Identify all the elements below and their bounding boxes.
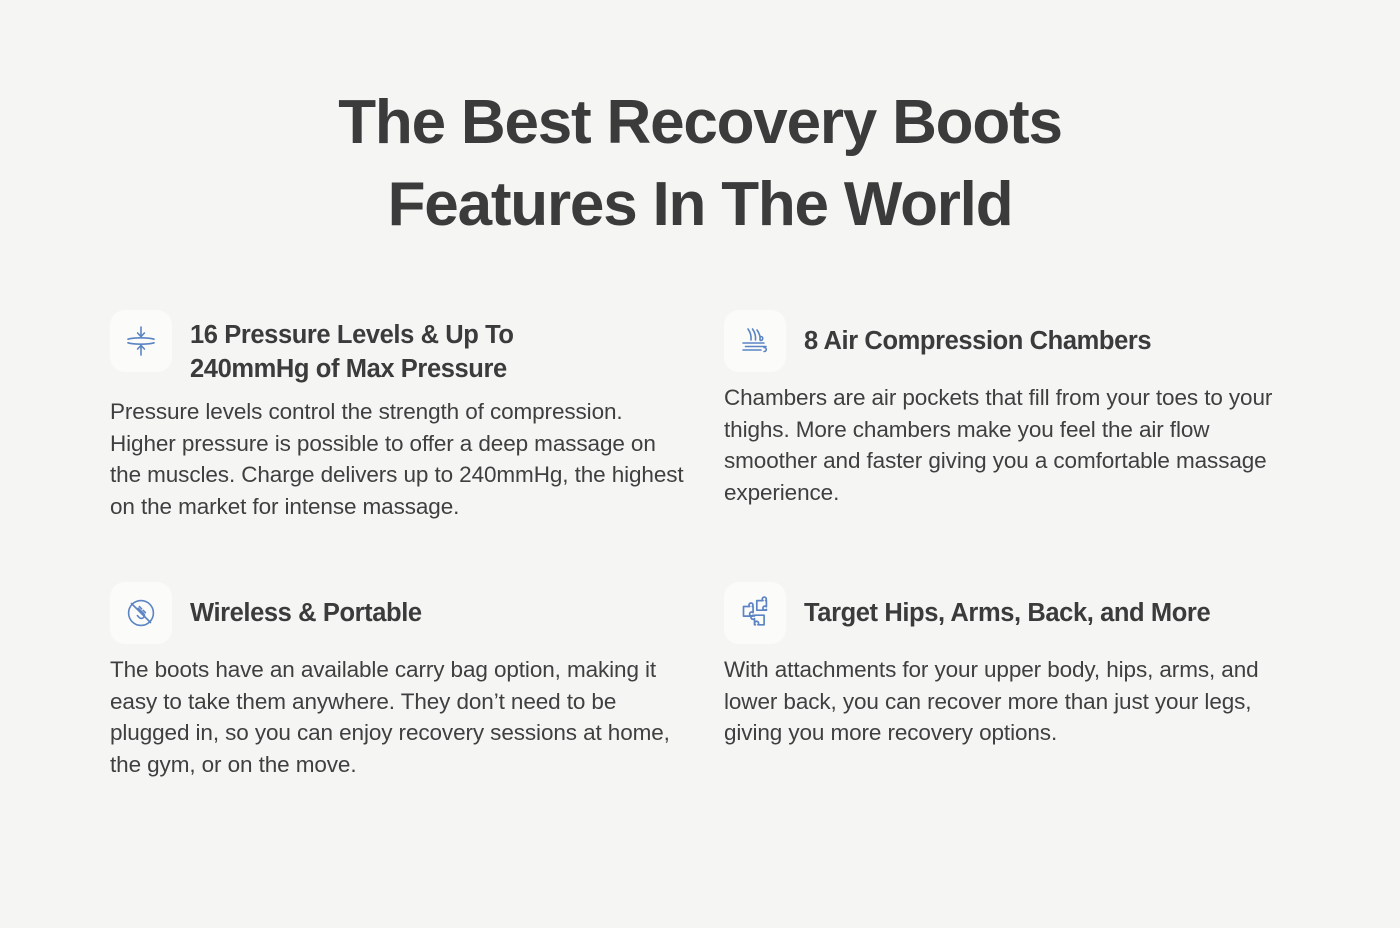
feature-body: With attachments for your upper body, hi… — [724, 654, 1304, 749]
feature-title: 8 Air Compression Chambers — [804, 308, 1151, 358]
feature-body: Pressure levels control the strength of … — [110, 396, 690, 522]
compression-arrows-icon — [110, 310, 172, 372]
feature-body: The boots have an available carry bag op… — [110, 654, 690, 780]
no-plug-wireless-icon — [110, 582, 172, 644]
puzzle-pieces-icon — [724, 582, 786, 644]
feature-title: 16 Pressure Levels & Up To 240mmHg of Ma… — [190, 308, 514, 386]
feature-card-wireless-portable: Wireless & Portable The boots have an av… — [110, 580, 710, 780]
page-title: The Best Recovery Boots Features In The … — [0, 0, 1400, 246]
feature-header: Target Hips, Arms, Back, and More — [724, 580, 1322, 644]
feature-header: Wireless & Portable — [110, 580, 710, 644]
feature-page: The Best Recovery Boots Features In The … — [0, 0, 1400, 928]
feature-card-air-chambers: 8 Air Compression Chambers Chambers are … — [722, 308, 1322, 522]
feature-header: 8 Air Compression Chambers — [724, 308, 1322, 372]
feature-card-target-areas: Target Hips, Arms, Back, and More With a… — [722, 580, 1322, 780]
feature-card-pressure-levels: 16 Pressure Levels & Up To 240mmHg of Ma… — [110, 308, 710, 522]
feature-grid: 16 Pressure Levels & Up To 240mmHg of Ma… — [0, 308, 1400, 780]
air-flow-icon — [724, 310, 786, 372]
feature-title: Wireless & Portable — [190, 580, 422, 630]
feature-body: Chambers are air pockets that fill from … — [724, 382, 1304, 508]
feature-header: 16 Pressure Levels & Up To 240mmHg of Ma… — [110, 308, 710, 386]
feature-title: Target Hips, Arms, Back, and More — [804, 580, 1210, 630]
